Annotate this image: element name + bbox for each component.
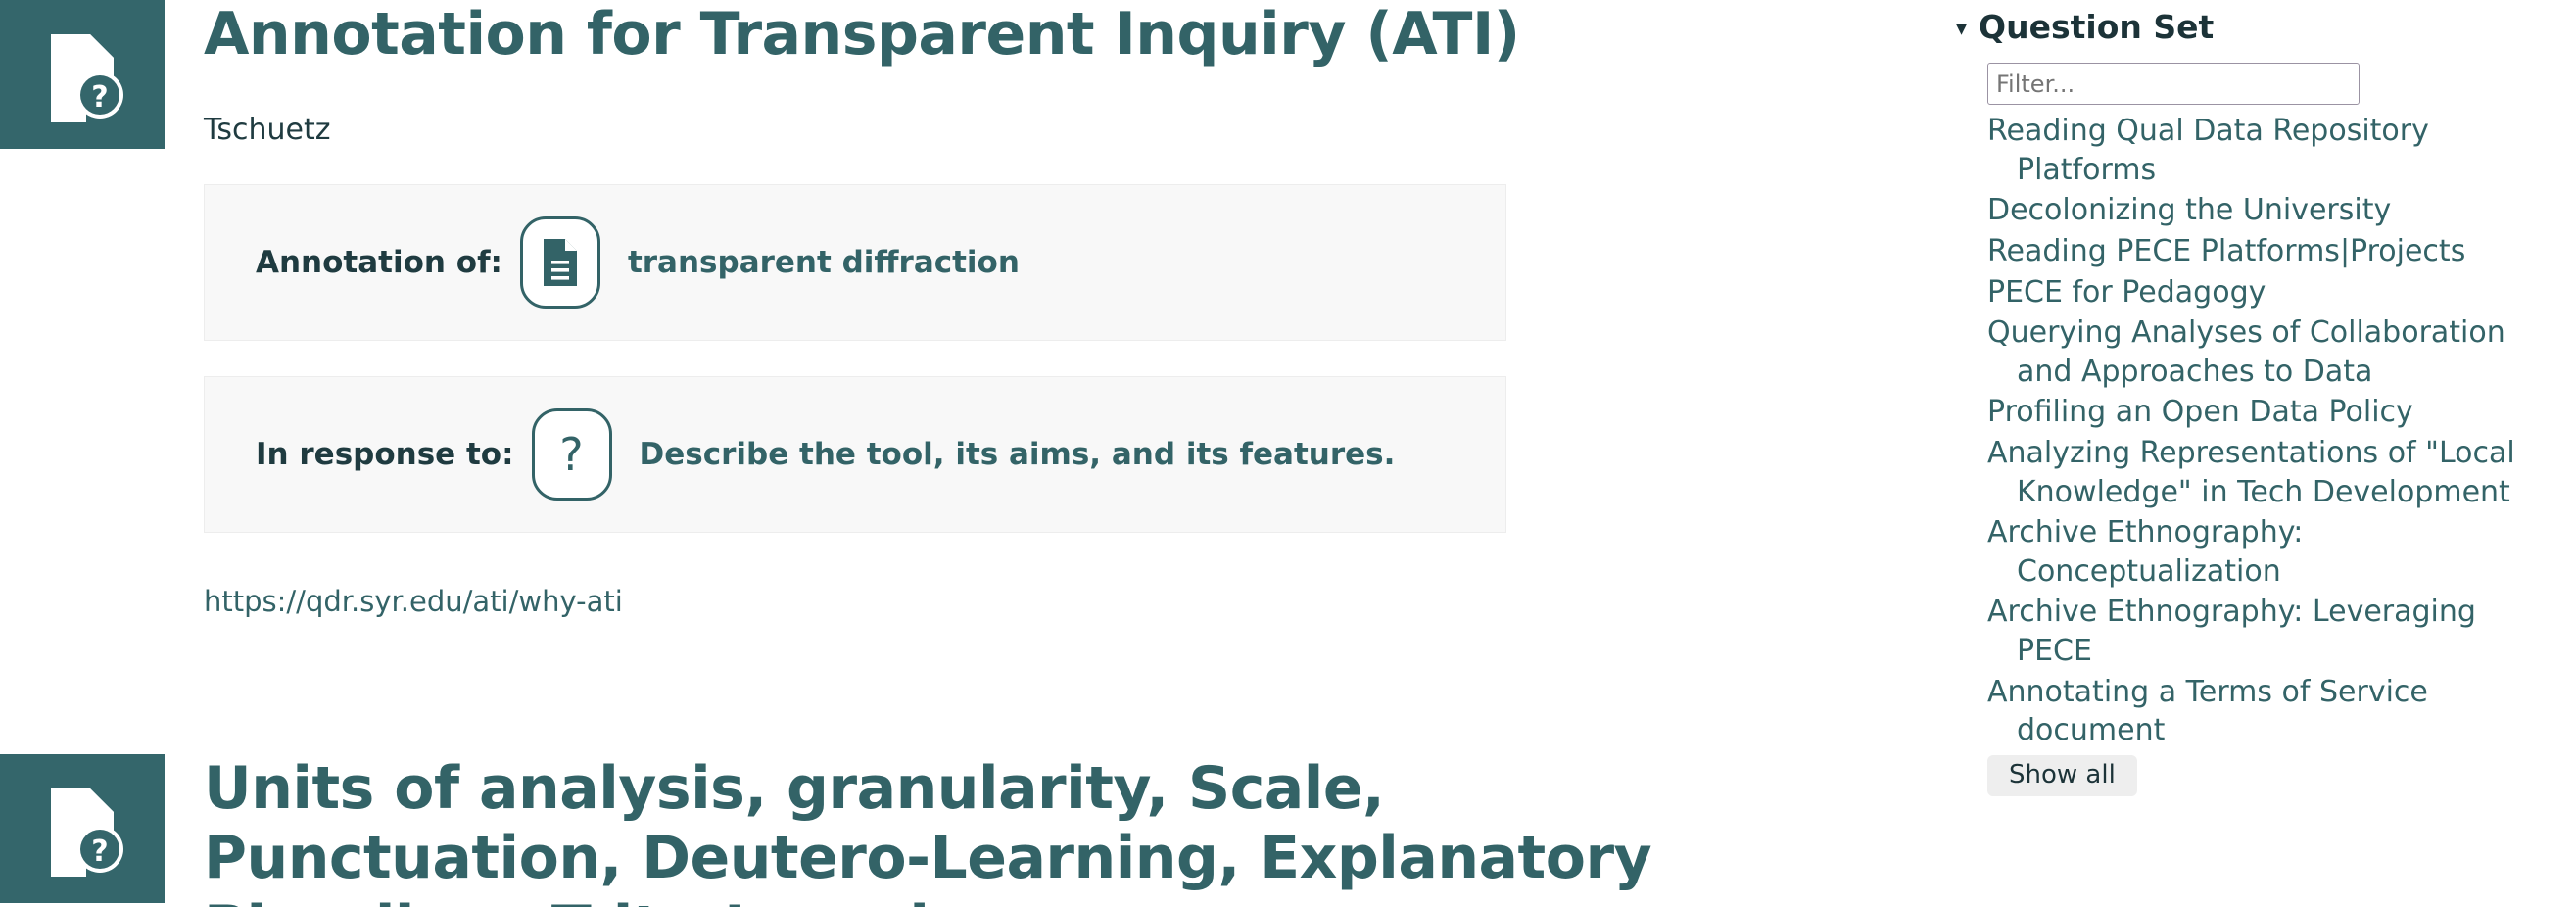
filter-input[interactable] <box>1987 63 2360 105</box>
article-url[interactable]: https://qdr.syr.edu/ati/why-ati <box>204 584 1895 621</box>
chevron-down-icon[interactable]: ▾ <box>1956 19 1967 40</box>
main-content-column: ? Annotation for Transparent Inquiry (AT… <box>0 0 1934 907</box>
in-response-to-box: In response to: ? Describe the tool, its… <box>204 376 1506 533</box>
annotation-of-value[interactable]: transparent diffraction <box>628 245 1020 280</box>
document-question-icon: ? <box>0 0 165 149</box>
page-title: Units of analysis, granularity, Scale, P… <box>204 754 1771 907</box>
list-item[interactable]: Reading Qual Data Repository Platforms <box>1987 111 2558 190</box>
list-item[interactable]: Archive Ethnography: Leveraging PECE <box>1987 592 2558 671</box>
page-root: ? Annotation for Transparent Inquiry (AT… <box>0 0 2576 907</box>
article-body: Units of analysis, granularity, Scale, P… <box>165 754 1934 907</box>
list-item[interactable]: Decolonizing the University <box>1987 190 2558 231</box>
show-all-row: Show all <box>1956 755 2558 797</box>
list-item[interactable]: Querying Analyses of Collaboration and A… <box>1987 312 2558 392</box>
question-mark-icon[interactable]: ? <box>532 408 612 501</box>
list-item[interactable]: PECE for Pedagogy <box>1987 272 2558 313</box>
article-body: Annotation for Transparent Inquiry (ATI)… <box>165 0 1934 620</box>
document-question-icon: ? <box>0 754 165 903</box>
question-set-list: Reading Qual Data Repository Platforms D… <box>1956 111 2558 751</box>
article-icon-wrapper: ? <box>0 0 165 149</box>
list-item[interactable]: Profiling an Open Data Policy <box>1987 392 2558 433</box>
page-title: Annotation for Transparent Inquiry (ATI) <box>204 0 1895 70</box>
annotation-article: ? Units of analysis, granularity, Scale,… <box>0 754 1934 907</box>
list-item[interactable]: Reading PECE Platforms|Projects <box>1987 231 2558 272</box>
svg-text:?: ? <box>91 80 108 115</box>
question-set-title: Question Set <box>1979 10 2214 45</box>
question-set-sidebar: ▾ Question Set Reading Qual Data Reposit… <box>1934 0 2576 907</box>
annotation-of-label: Annotation of: <box>256 245 502 280</box>
show-all-button[interactable]: Show all <box>1987 755 2137 797</box>
list-item[interactable]: Annotating a Terms of Service document <box>1987 672 2558 751</box>
document-icon[interactable] <box>520 216 600 309</box>
annotation-article: ? Annotation for Transparent Inquiry (AT… <box>0 0 1934 620</box>
question-set-header[interactable]: ▾ Question Set <box>1956 10 2558 45</box>
in-response-to-label: In response to: <box>256 437 514 472</box>
article-author: Tschuetz <box>204 111 1895 149</box>
in-response-to-value[interactable]: Describe the tool, its aims, and its fea… <box>640 437 1396 472</box>
question-mark-glyph: ? <box>559 432 583 477</box>
svg-text:?: ? <box>91 835 108 869</box>
annotation-of-box: Annotation of: transparent diffraction <box>204 184 1506 341</box>
article-icon-wrapper: ? <box>0 754 165 903</box>
list-item[interactable]: Analyzing Representations of "Local Know… <box>1987 433 2558 512</box>
list-item[interactable]: Archive Ethnography: Conceptualization <box>1987 512 2558 592</box>
